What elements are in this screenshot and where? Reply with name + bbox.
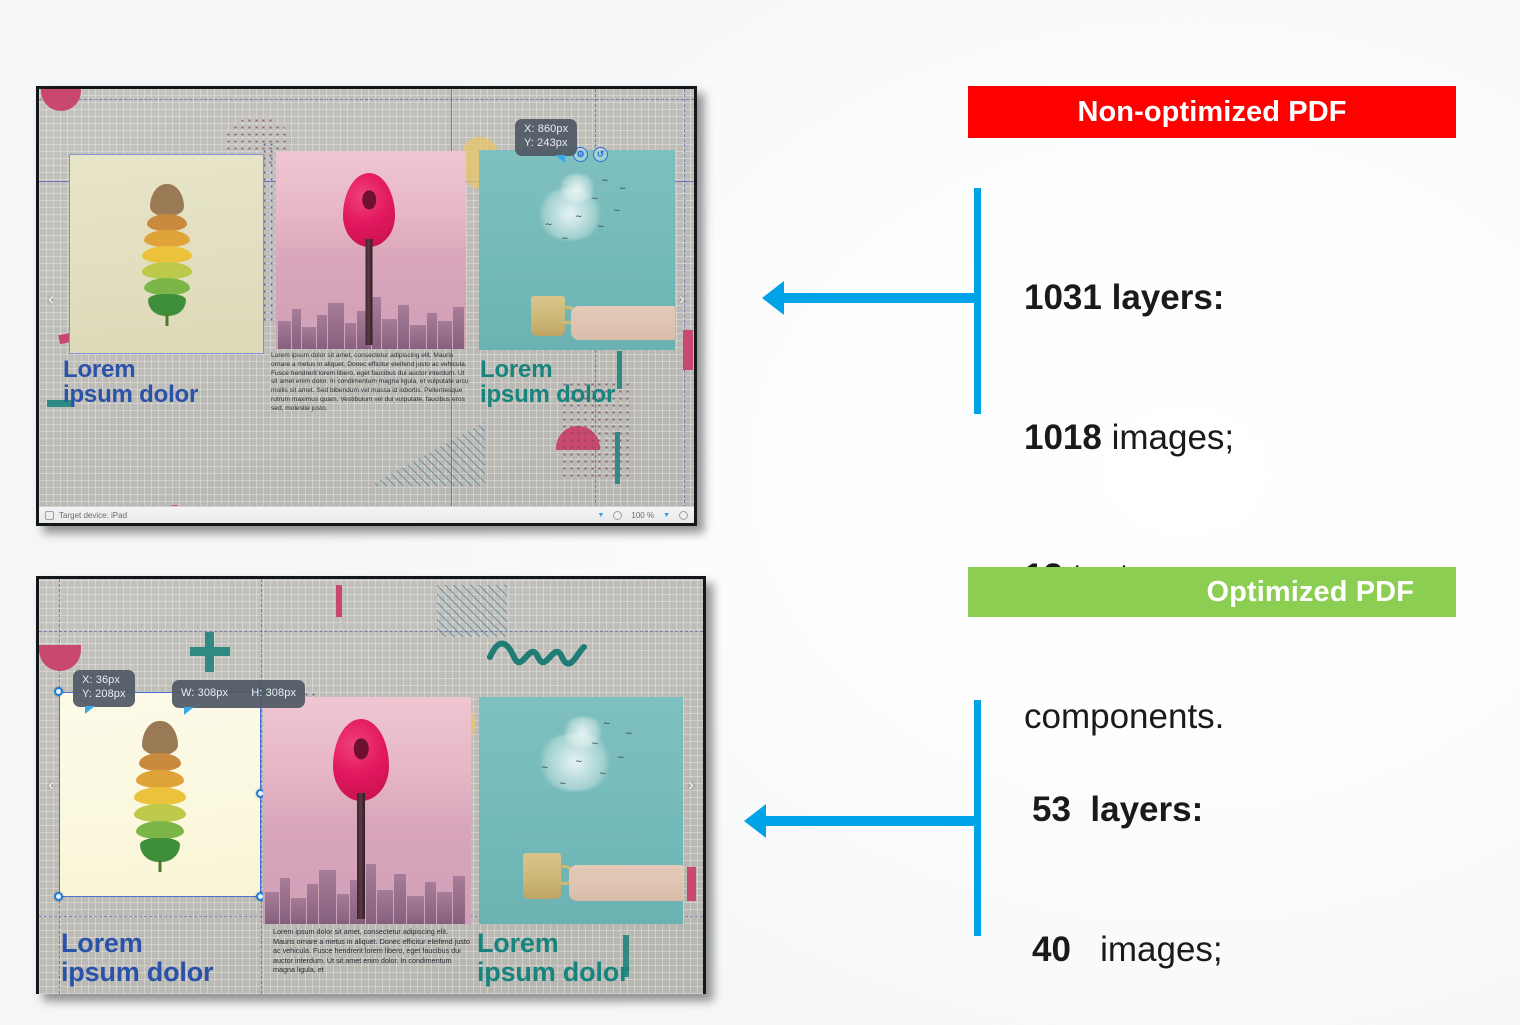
decor-halfcircle [41,89,81,111]
headline-left-bottom: Lorem ipsum dolor [61,929,213,986]
device-dropdown-caret[interactable]: ▼ [597,512,604,519]
decor-bar [617,351,622,389]
headline-line2: ipsum dolor [61,958,213,987]
headline-line2: ipsum dolor [477,958,629,987]
headline-right-bottom: Lorem ipsum dolor [477,929,629,986]
zoom-level-label: 100 % [631,511,654,520]
decor-hatch [369,422,485,486]
screenshot-non-optimized[interactable]: ∼ ∼ ∼ ∼ ∼ ∼ ∼ ∼ Lorem ipsum dolor Lorem … [36,86,697,526]
headline-line1: Lorem [61,929,213,958]
layers-word: layers: [1102,278,1225,317]
screenshot-optimized[interactable]: ↻ [36,576,706,994]
layers-count: 53 [1032,790,1071,829]
resize-handle-bottom-left[interactable] [54,892,63,901]
bird-icon: ∼ [597,222,605,231]
rotate-icon[interactable]: ↺ [593,147,608,162]
mug-illustration [531,296,565,336]
decor-hatch [437,585,507,637]
tooltip-width-label: W: 308px [181,687,228,701]
bird-icon: ∼ [613,206,621,215]
tooltip-position-bottom: X: 36px Y: 208px [73,670,135,707]
decor-bar [615,432,620,484]
bird-icon: ∼ [591,194,599,203]
tooltip-x-label: X: 860px [524,123,568,137]
tooltip-y-label: Y: 208px [82,688,126,702]
bird-icon: ∼ [617,753,625,762]
headline-right-top: Lorem ipsum dolor [480,357,615,408]
stat-block-optimized: 53 layers: 40 images; 13 text components… [974,700,1394,936]
bird-icon: ∼ [625,729,633,738]
images-count: 40 [1032,930,1071,969]
bird-icon: ∼ [545,220,553,229]
headline-line1: Lorem [480,357,615,382]
layers-word: layers: [1071,790,1203,829]
bird-icon: ∼ [591,739,599,748]
target-device-label: Target device: iPad [59,511,127,520]
layers-count: 1031 [1024,278,1102,317]
canvas-prev-chevron[interactable]: ‹ [41,775,61,795]
badge-optimized: Optimized PDF [968,567,1456,617]
headline-line1: Lorem [477,929,629,958]
decor-halfcircle [39,645,81,671]
images-word: images; [1071,930,1223,969]
headline-line1: Lorem [63,357,198,382]
bird-icon: ∼ [619,184,627,193]
map-pin-illustration [336,173,402,345]
bird-icon: ∼ [561,234,569,243]
zoom-out-icon[interactable] [613,511,622,520]
slide-root: ∼ ∼ ∼ ∼ ∼ ∼ ∼ ∼ Lorem ipsum dolor Lorem … [0,0,1520,1025]
canvas-next-chevron[interactable]: › [672,289,692,309]
tooltip-height-label: H: 308px [251,687,296,701]
stat-line-layers: 1031 layers: [1024,275,1234,322]
decor-bar [683,330,693,370]
headline-line2: ipsum dolor [63,382,198,407]
zoom-dropdown-caret[interactable]: ▼ [663,512,670,519]
stat-text-optimized: 53 layers: 40 images; 13 text components… [1032,694,1232,1025]
headline-line2: ipsum dolor [480,382,615,407]
images-count: 1018 [1024,418,1102,457]
arrow-non-optimized [784,293,978,303]
body-paragraph-bottom: Lorem ipsum dolor sit amet, consectetur … [273,927,471,975]
bird-icon: ∼ [603,719,611,728]
hand-illustration [571,306,675,340]
stat-line-images: 1018 images; [1024,415,1234,462]
guide-vertical [261,579,262,994]
accent-rule [974,700,981,936]
stat-line-images: 40 images; [1032,927,1232,974]
map-pin-illustration [325,719,397,919]
design-canvas-top[interactable]: ∼ ∼ ∼ ∼ ∼ ∼ ∼ ∼ Lorem ipsum dolor Lorem … [39,89,694,523]
tooltip-position-top: X: 860px Y: 243px [515,119,577,156]
design-canvas-bottom[interactable]: ↻ [39,579,703,994]
bird-icon: ∼ [601,176,609,185]
tooltip-size-bottom: W: 308px H: 308px [172,680,305,708]
bird-icon: ∼ [599,769,607,778]
decor-wave [487,637,587,667]
bird-icon: ∼ [575,757,583,766]
tooltip-y-label: Y: 243px [524,137,568,151]
badge-non-optimized: Non-optimized PDF [968,86,1456,138]
images-word: images; [1102,418,1234,457]
canvas-next-chevron[interactable]: › [681,775,701,795]
resize-handle-top-left[interactable] [54,687,63,696]
floating-image-toolbar[interactable]: ⚙ ↺ [573,147,608,162]
device-icon [45,511,54,520]
image-card-coffee[interactable]: ∼ ∼ ∼ ∼ ∼ ∼ ∼ ∼ [479,697,683,924]
decor-bar [336,585,342,617]
stat-block-non-optimized: 1031 layers: 1018 images; 13 text compon… [974,188,1394,414]
canvas-prev-chevron[interactable]: ‹ [41,289,61,309]
bird-icon: ∼ [541,763,549,772]
hand-illustration [569,865,683,901]
selection-box-leaf[interactable] [59,692,261,897]
image-card-city[interactable] [276,151,466,349]
accent-rule [974,188,981,414]
image-card-coffee[interactable]: ∼ ∼ ∼ ∼ ∼ ∼ ∼ ∼ [479,150,675,350]
selection-box-leaf[interactable] [69,154,264,354]
mug-illustration [523,853,561,899]
canvas-statusbar-top[interactable]: Target device: iPad ▼ 100 % ▼ [39,506,694,523]
image-card-city[interactable] [263,697,471,924]
bird-icon: ∼ [559,779,567,788]
stat-line-layers: 53 layers: [1032,787,1232,834]
fit-screen-icon[interactable] [679,511,688,520]
body-paragraph-top: Lorem ipsum dolor sit amet, consectetur … [271,352,469,413]
tooltip-x-label: X: 36px [82,674,126,688]
guide-horizontal [39,99,694,100]
headline-left-top: Lorem ipsum dolor [63,357,198,408]
decor-bar [687,867,696,901]
bird-icon: ∼ [575,212,583,221]
decor-plus-icon [205,632,214,672]
arrow-optimized [766,816,978,826]
guide-horizontal [39,631,703,632]
